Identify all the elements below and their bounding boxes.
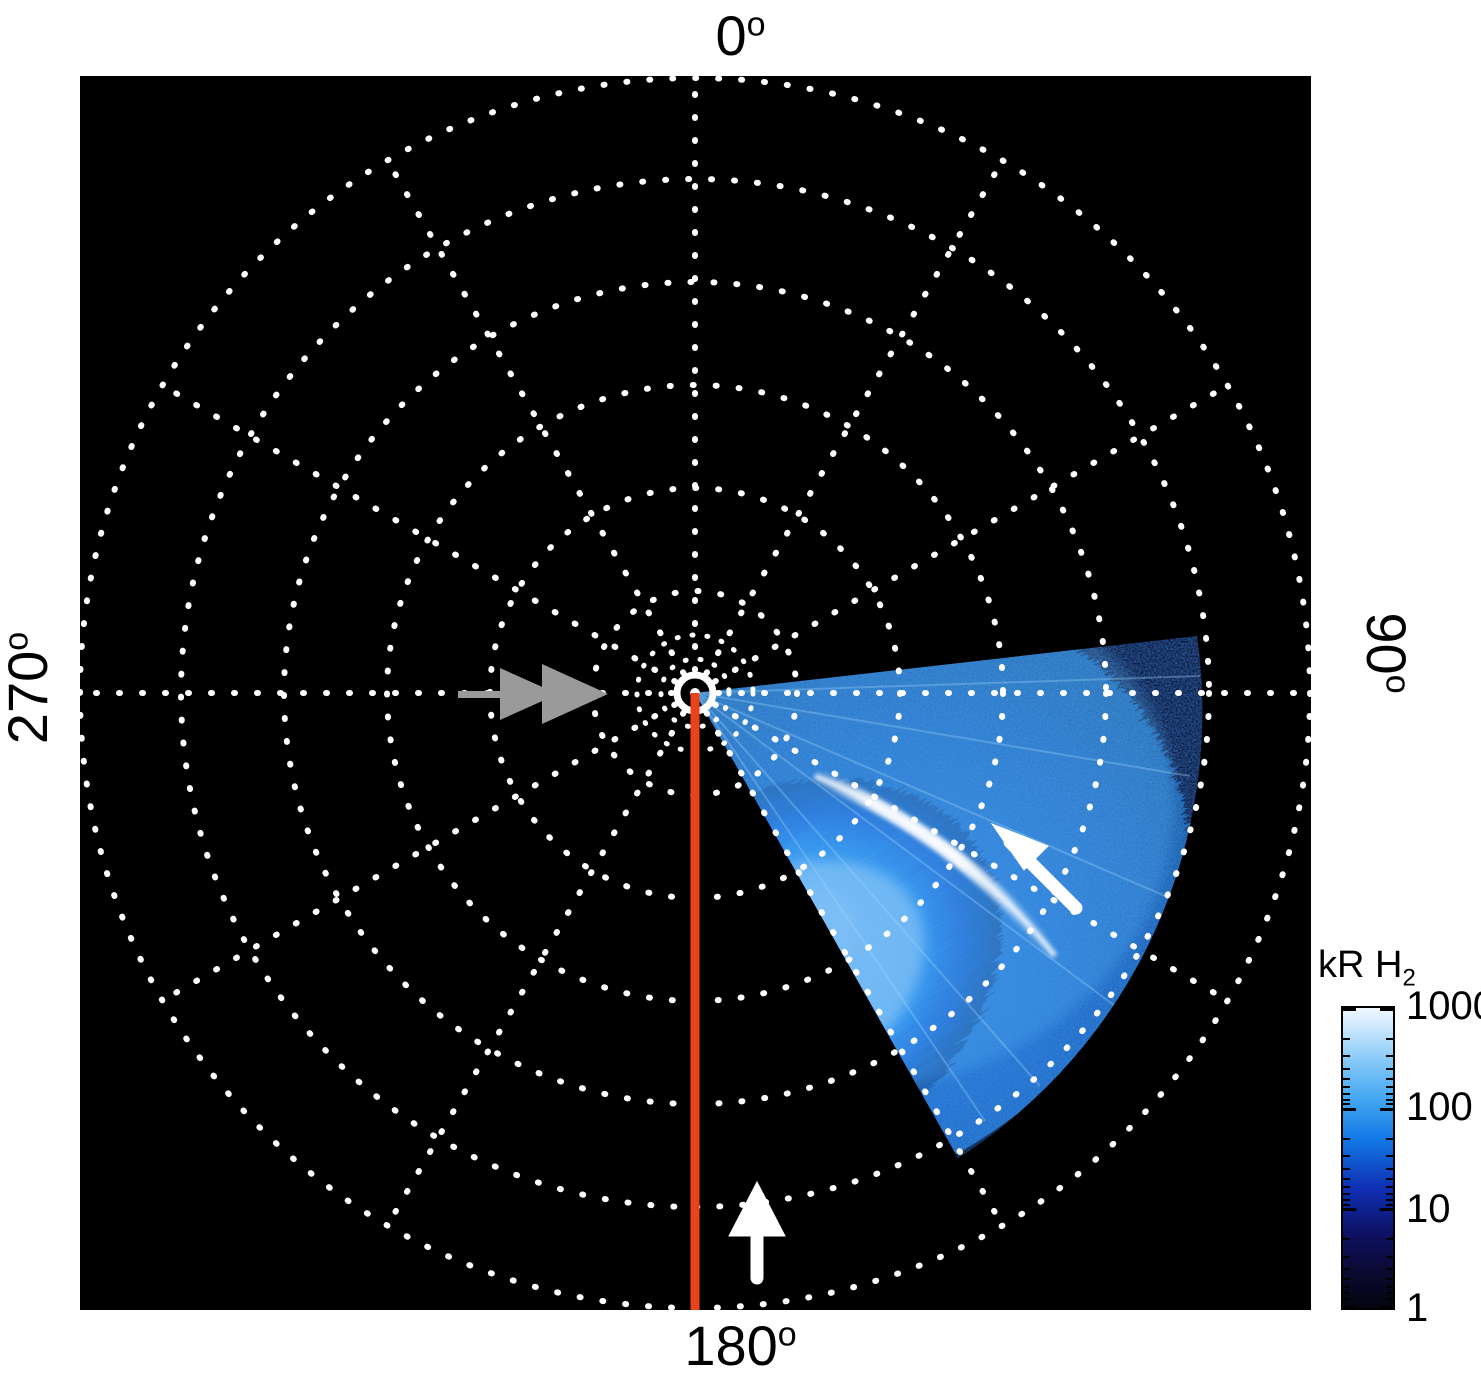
colorbar-tick-major [1380, 1306, 1393, 1309]
colorbar-tick-minor [1386, 1068, 1393, 1070]
colorbar-tick-minor [1386, 1099, 1393, 1101]
colorbar-tick-minor [1386, 1199, 1393, 1201]
colorbar-tick-minor [1343, 1298, 1350, 1300]
degree-symbol: o [747, 5, 766, 43]
colorbar-tick-minor [1343, 1068, 1350, 1070]
colorbar-tick-minor [1386, 1278, 1393, 1280]
colorbar-tick-minor [1343, 1292, 1350, 1294]
colorbar-tick-minor [1343, 1193, 1350, 1195]
colorbar-gradient [1341, 1006, 1395, 1310]
colorbar-tick-minor [1343, 1268, 1350, 1270]
colorbar-tick-minor [1386, 1286, 1393, 1288]
colorbar-tick-minor [1343, 1103, 1350, 1105]
colorbar-tick-minor [1386, 1038, 1393, 1040]
colorbar-tick-minor [1386, 1103, 1393, 1105]
colorbar-ticks [1343, 1008, 1393, 1308]
colorbar-tick-minor [1343, 1199, 1350, 1201]
polar-plot-panel [80, 76, 1311, 1310]
colorbar-tick-minor [1386, 1055, 1393, 1057]
colorbar-tick-major [1380, 1008, 1393, 1011]
colorbar-tick-minor [1343, 1286, 1350, 1288]
colorbar-tick-minor [1343, 1038, 1350, 1040]
colorbar-label-100: 100 [1406, 1087, 1473, 1127]
colorbar-tick-minor [1343, 1155, 1350, 1157]
colorbar-tick-minor [1343, 1278, 1350, 1280]
colorbar-tick-minor [1386, 1093, 1393, 1095]
colorbar-tick-minor [1386, 1168, 1393, 1170]
colorbar-tick-major [1343, 1008, 1356, 1011]
polar-aurora-figure: 0o 180o 270o 90o kR H2 [0, 0, 1481, 1386]
colorbar-tick-minor [1343, 1168, 1350, 1170]
axis-label-180-deg: 180o [0, 1318, 1481, 1374]
degree-symbol: o [0, 632, 35, 651]
colorbar-tick-minor [1386, 1086, 1393, 1088]
colorbar-tick-major [1343, 1108, 1356, 1111]
colorbar-tick-minor [1386, 1078, 1393, 1080]
polar-plot-canvas [80, 76, 1311, 1310]
colorbar-title: kR H2 [1318, 944, 1416, 987]
colorbar-tick-minor [1386, 1238, 1393, 1240]
colorbar-tick-minor [1386, 1298, 1393, 1300]
colorbar-tick-minor [1386, 1186, 1393, 1188]
colorbar-tick-major [1343, 1208, 1356, 1211]
colorbar-tick-minor [1343, 1078, 1350, 1080]
colorbar-tick-minor [1343, 1256, 1350, 1258]
colorbar-label-1: 1 [1406, 1288, 1428, 1328]
colorbar-tick-minor [1343, 1204, 1350, 1206]
colorbar-tick-minor [1343, 1178, 1350, 1180]
axis-label-90-deg: 90o [1358, 563, 1414, 743]
colorbar-tick-minor [1386, 1155, 1393, 1157]
colorbar-tick-major [1380, 1208, 1393, 1211]
colorbar-tick-minor [1343, 1099, 1350, 1101]
colorbar-tick-minor [1386, 1193, 1393, 1195]
colorbar-tick-minor [1343, 1055, 1350, 1057]
colorbar-label-10: 10 [1406, 1189, 1451, 1229]
colorbar-tick-minor [1343, 1086, 1350, 1088]
colorbar-tick-minor [1343, 1238, 1350, 1240]
colorbar-tick-minor [1386, 1256, 1393, 1258]
colorbar-tick-minor [1386, 1204, 1393, 1206]
colorbar-tick-major [1343, 1306, 1356, 1309]
degree-symbol: o [778, 1315, 797, 1353]
colorbar-tick-minor [1343, 1093, 1350, 1095]
colorbar-tick-minor [1386, 1268, 1393, 1270]
colorbar-tick-minor [1386, 1138, 1393, 1140]
colorbar-label-1000: 1000 [1406, 986, 1481, 1026]
colorbar: kR H2 [1318, 944, 1478, 1324]
colorbar-tick-minor [1343, 1186, 1350, 1188]
colorbar-tick-minor [1386, 1292, 1393, 1294]
axis-label-270-deg: 270o [0, 598, 56, 778]
axis-label-0-deg: 0o [0, 8, 1481, 64]
degree-symbol: o [1379, 675, 1417, 694]
colorbar-tick-minor [1386, 1178, 1393, 1180]
colorbar-tick-major [1380, 1108, 1393, 1111]
colorbar-tick-minor [1343, 1138, 1350, 1140]
